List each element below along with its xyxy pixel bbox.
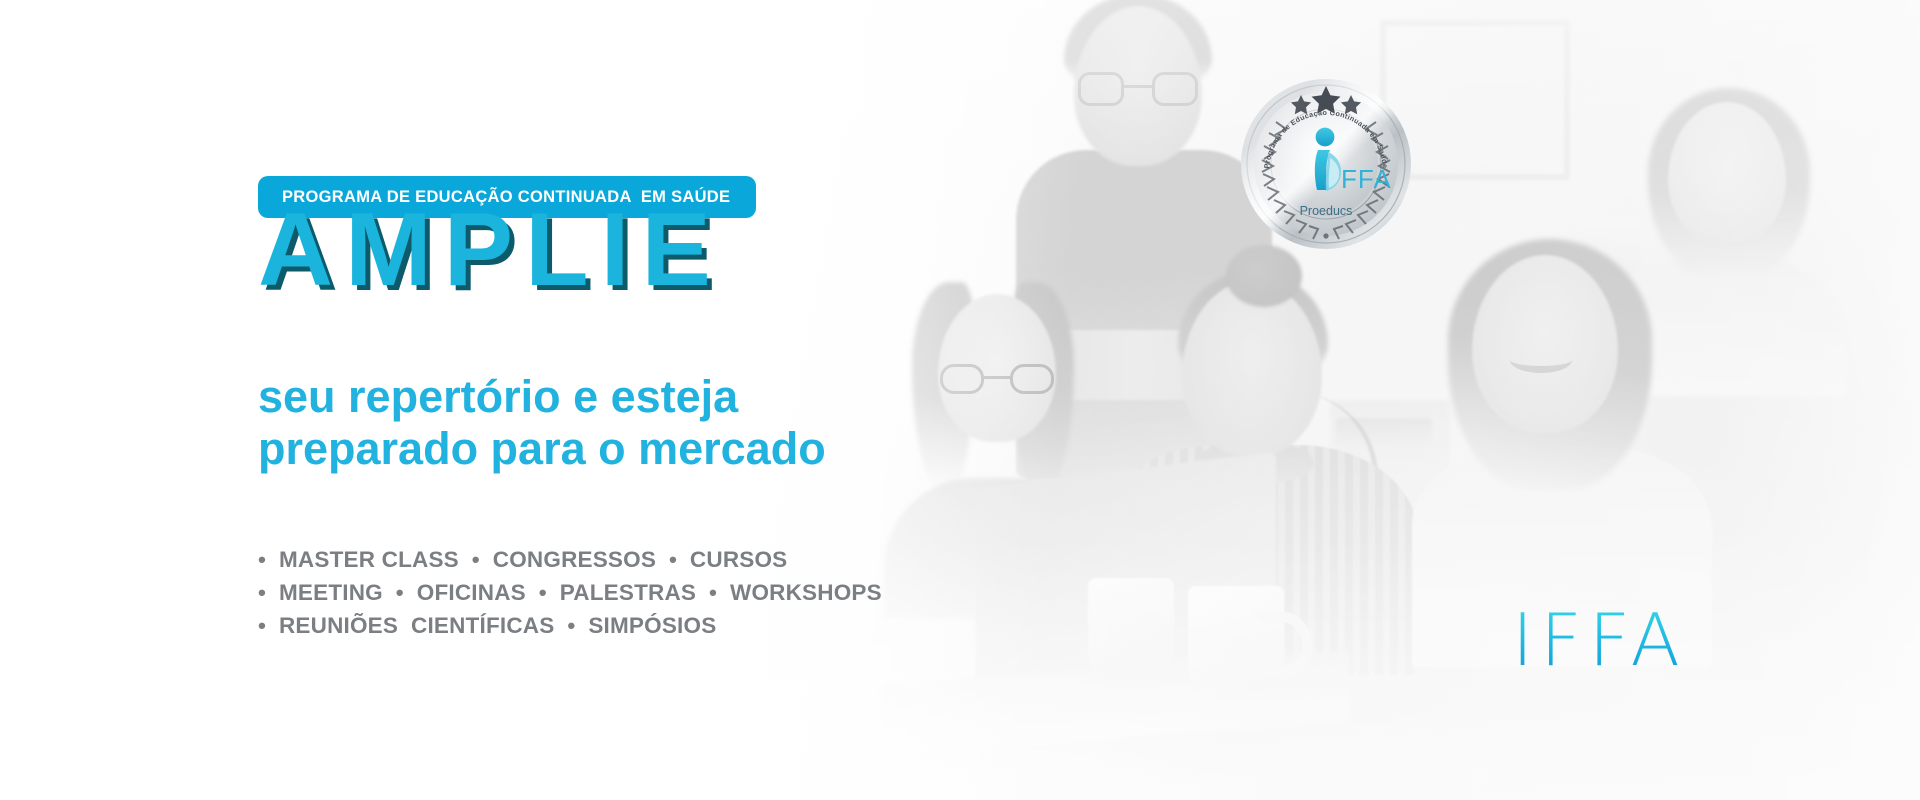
seal-bottom-text: Proeducs bbox=[1300, 204, 1353, 218]
offerings-list: • MASTER CLASS • CONGRESSOS • CURSOS • M… bbox=[258, 543, 882, 642]
list-item: • MEETING • OFICINAS • PALESTRAS • WORKS… bbox=[258, 576, 882, 609]
certification-seal: Programa de Educação Continuada em Saúde… bbox=[1238, 76, 1414, 252]
list-item: • REUNIÕES CIENTÍFICAS • SIMPÓSIOS bbox=[258, 609, 882, 642]
iffa-logo-wordmark: IFFA bbox=[1512, 604, 1687, 676]
wreath-base-dot bbox=[1323, 233, 1328, 238]
list-item: • MASTER CLASS • CONGRESSOS • CURSOS bbox=[258, 543, 882, 576]
seal-monogram: FFA bbox=[1341, 164, 1392, 194]
hero-banner: PROGRAMA DE EDUCAÇÃO CONTINUADA EM SAÚDE… bbox=[0, 0, 1920, 800]
page-subtitle: seu repertório e esteja preparado para o… bbox=[258, 371, 826, 475]
page-title: AMPLIE bbox=[258, 198, 723, 302]
hero-content: PROGRAMA DE EDUCAÇÃO CONTINUADA EM SAÚDE… bbox=[0, 0, 1920, 800]
